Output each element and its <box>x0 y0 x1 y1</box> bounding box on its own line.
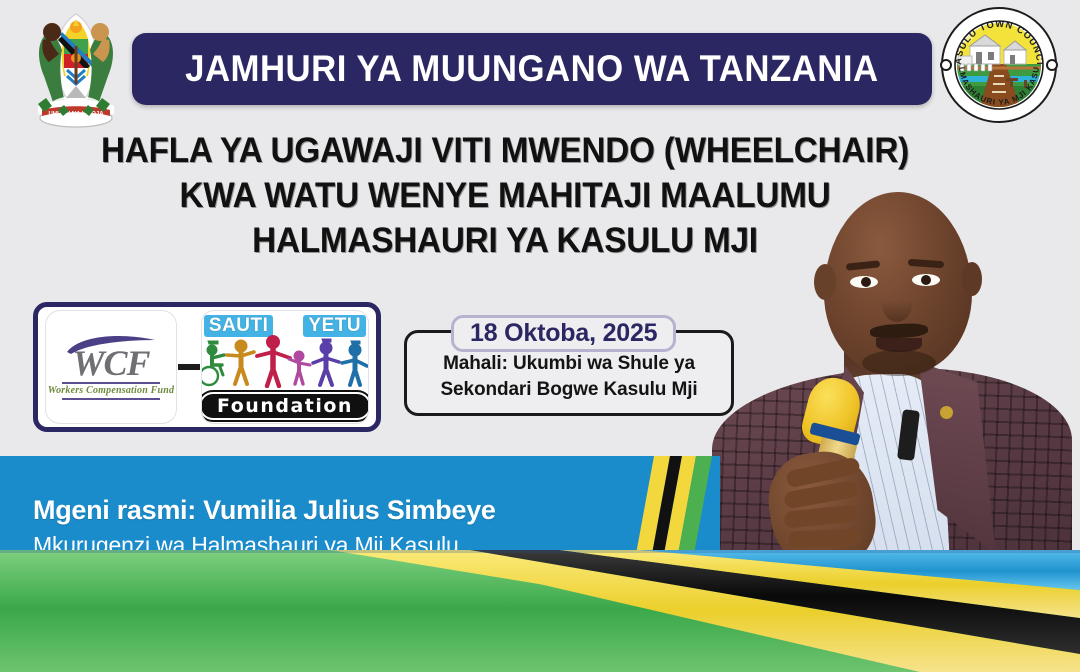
republic-ribbon: JAMHURI YA MUUNGANO WA TANZANIA <box>132 33 932 105</box>
kasulu-town-council-seal-icon: KASULU TOWN COUNCIL HALMASHAURI YA MJI K… <box>940 6 1058 124</box>
title-line-2: KWA WATU WENYE MAHITAJI MAALUMU <box>25 173 985 218</box>
event-poster: UHURU NA UMOJA <box>0 0 1080 672</box>
foundation-word: Foundation <box>202 392 368 420</box>
wcf-logo: WCF Workers Compensation Fund <box>46 311 176 423</box>
title-line-1: HAFLA YA UGAWAJI VITI MWENDO (WHEELCHAIR… <box>25 128 985 173</box>
venue-line-1: Mahali: Ukumbi wa Shule ya <box>443 351 695 377</box>
wcf-swoosh-icon <box>65 334 157 356</box>
tanzania-coat-of-arms-icon: UHURU NA UMOJA <box>22 6 130 128</box>
sauti-yetu-logo: SAUTI YETU <box>202 311 368 423</box>
guest-name: Mgeni rasmi: Vumilia Julius Simbeye <box>33 492 496 528</box>
event-date: 18 Oktoba, 2025 <box>451 315 676 352</box>
page-title: HAFLA YA UGAWAJI VITI MWENDO (WHEELCHAIR… <box>0 128 1010 263</box>
sponsor-logos: WCF Workers Compensation Fund SAUTI YETU <box>33 302 381 432</box>
lapel-pin-icon <box>940 406 953 419</box>
svg-text:UHURU NA UMOJA: UHURU NA UMOJA <box>48 112 104 118</box>
people-chain-icon <box>202 334 368 388</box>
logo-connector <box>178 364 200 370</box>
tanzania-flag-icon <box>0 550 1080 672</box>
wcf-full-name: Workers Compensation Fund <box>48 385 175 396</box>
ribbon-label: JAMHURI YA MUUNGANO WA TANZANIA <box>185 48 878 90</box>
title-line-3: HALMASHAURI YA KASULU MJI <box>25 218 985 263</box>
venue-line-2: Sekondari Bogwe Kasulu Mji <box>440 377 697 403</box>
